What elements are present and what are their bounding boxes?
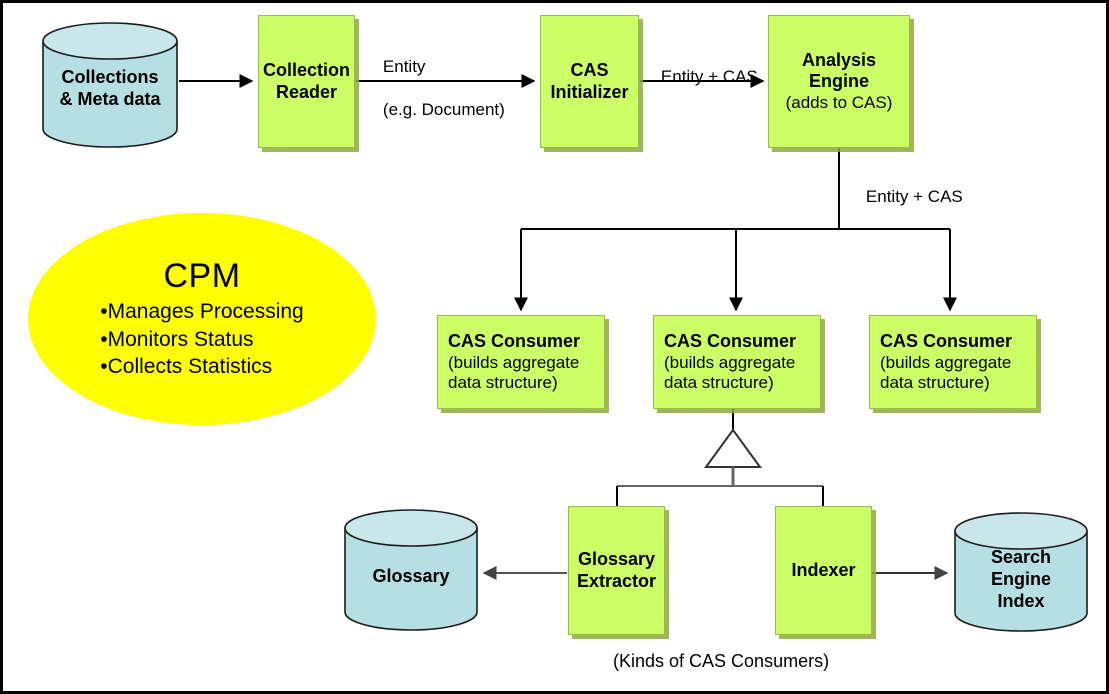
analysis-engine-line1: Analysis	[802, 50, 876, 70]
search-index-line1: Search	[991, 547, 1051, 567]
edge-label-entity-cas-top: Entity + CAS	[642, 45, 758, 109]
cas-consumer-left-sub1: (builds aggregate	[448, 353, 579, 372]
collections-line2: & Meta data	[59, 89, 160, 109]
cas-consumer-right-title: CAS Consumer	[880, 331, 1012, 351]
cas-consumer-center-sub2: data structure)	[664, 373, 774, 392]
cas-consumer-right-sub1: (builds aggregate	[880, 353, 1011, 372]
cas-consumer-right-sub2: data structure)	[880, 373, 990, 392]
process-glossary-extractor[interactable]: Glossary Extractor	[568, 506, 665, 635]
entity-label-line1: Entity	[383, 57, 426, 76]
datastore-search-engine-index: Search Engine Index	[953, 511, 1089, 633]
cpm-bullet-0: •Manages Processing	[100, 298, 303, 326]
search-index-line3: Index	[997, 591, 1044, 611]
process-cas-consumer-left[interactable]: CAS Consumer (builds aggregate data stru…	[437, 315, 605, 409]
cpm-bullet-1: •Monitors Status	[100, 326, 303, 354]
edge-label-entity-cas-branch: Entity + CAS	[847, 165, 963, 229]
cas-consumer-left-sub2: data structure)	[448, 373, 558, 392]
edge-label-entity: Entity (e.g. Document)	[364, 35, 505, 141]
cpm-title: CPM	[163, 257, 240, 296]
cas-consumer-left-title: CAS Consumer	[448, 331, 580, 351]
process-cas-consumer-right[interactable]: CAS Consumer (builds aggregate data stru…	[869, 315, 1037, 409]
process-indexer[interactable]: Indexer	[775, 506, 872, 635]
entity-cas-top-text: Entity + CAS	[661, 67, 758, 86]
process-cas-consumer-center[interactable]: CAS Consumer (builds aggregate data stru…	[653, 315, 821, 409]
collections-line1: Collections	[61, 67, 158, 87]
datastore-collections-label: Collections & Meta data	[41, 67, 179, 111]
cpm-bullet-list: •Manages Processing •Monitors Status •Co…	[100, 298, 303, 381]
search-index-line2: Engine	[991, 569, 1051, 589]
collection-reader-line2: Reader	[276, 82, 337, 102]
indexer-title: Indexer	[791, 560, 855, 580]
caption-kinds-of-cas-consumers: (Kinds of CAS Consumers)	[613, 651, 829, 672]
entity-cas-branch-text: Entity + CAS	[866, 187, 963, 206]
process-cas-initializer[interactable]: CAS Initializer	[540, 15, 639, 148]
cas-consumer-center-sub1: (builds aggregate	[664, 353, 795, 372]
glossary-extractor-line1: Glossary	[578, 549, 655, 569]
collection-reader-line1: Collection	[263, 60, 350, 80]
datastore-collections: Collections & Meta data	[41, 21, 179, 149]
analysis-engine-subtitle: (adds to CAS)	[786, 93, 893, 112]
uml-generalization-triangle	[706, 430, 760, 467]
analysis-engine-line2: Engine	[809, 71, 869, 91]
cas-initializer-line1: CAS	[570, 60, 608, 80]
process-analysis-engine[interactable]: Analysis Engine (adds to CAS)	[768, 15, 910, 148]
cpm-ellipse: CPM •Manages Processing •Monitors Status…	[28, 213, 376, 425]
datastore-glossary-label: Glossary	[343, 566, 479, 588]
glossary-extractor-line2: Extractor	[577, 571, 656, 591]
cpm-bullet-2: •Collects Statistics	[100, 353, 303, 381]
datastore-search-engine-index-label: Search Engine Index	[953, 547, 1089, 613]
cas-consumer-center-title: CAS Consumer	[664, 331, 796, 351]
diagram-canvas: Collections & Meta data Collection Reade…	[0, 0, 1109, 694]
datastore-glossary: Glossary	[343, 508, 479, 632]
process-collection-reader[interactable]: Collection Reader	[258, 15, 355, 148]
cas-initializer-line2: Initializer	[550, 82, 628, 102]
entity-label-line2: (e.g. Document)	[383, 100, 505, 119]
